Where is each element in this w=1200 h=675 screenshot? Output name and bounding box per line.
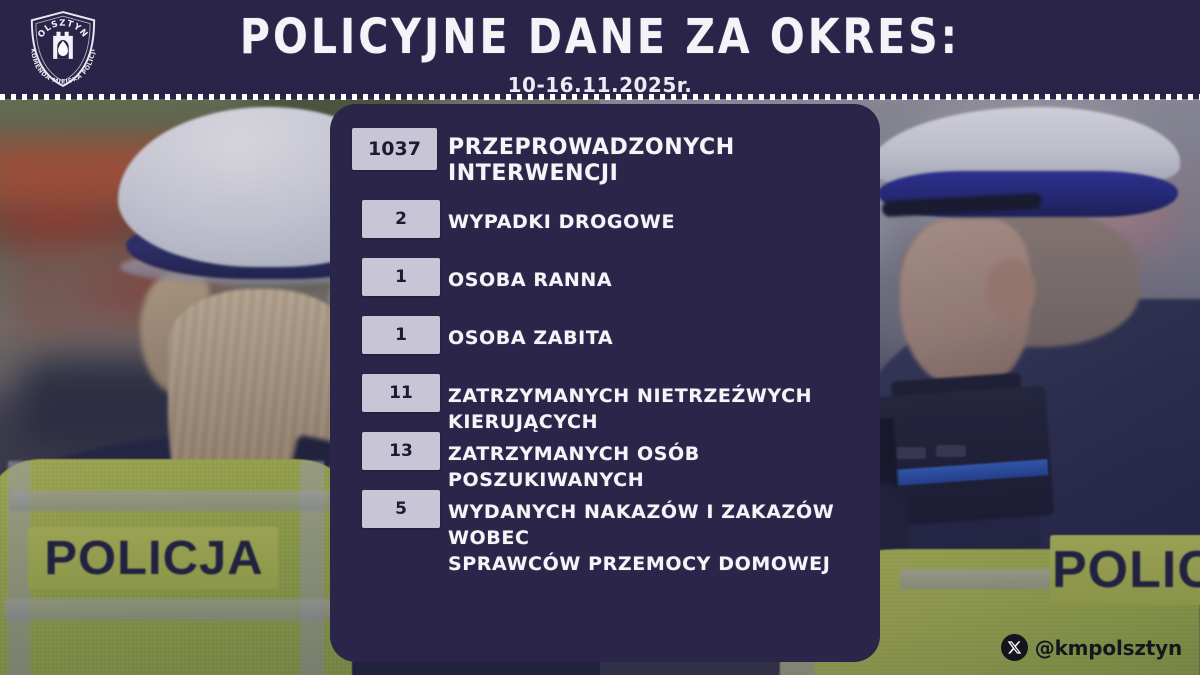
header-bar: OLSZTYN KOMENDA MIEJSKA POLICJI POLICYJN… xyxy=(0,0,1200,99)
stat-row: 1OSOBA ZABITA xyxy=(330,316,613,354)
stat-value-box: 11 xyxy=(362,374,440,412)
vest-policja-text-right: POLICJA xyxy=(1052,539,1200,601)
social-handle-text: @kmpolsztyn xyxy=(1035,636,1182,660)
social-handle[interactable]: @kmpolsztyn xyxy=(1001,634,1182,661)
stat-label: OSOBA ZABITA xyxy=(448,316,613,351)
stat-label: WYPADKI DROGOWE xyxy=(448,200,675,235)
x-twitter-icon[interactable] xyxy=(1001,634,1028,661)
stat-row: 1037PRZEPROWADZONYCH INTERWENCJI xyxy=(330,128,880,187)
stat-row: 13ZATRZYMANYCH OSÓB POSZUKIWANYCH xyxy=(330,432,880,493)
infographic-root: POLICJA POLI xyxy=(0,0,1200,675)
stat-row: 1OSOBA RANNA xyxy=(330,258,612,296)
stats-panel: 1037PRZEPROWADZONYCH INTERWENCJI2WYPADKI… xyxy=(330,104,880,662)
stat-value-box: 1 xyxy=(362,258,440,296)
vest-policja-text: POLICJA xyxy=(28,531,281,587)
vest-reflective-stripe xyxy=(10,491,340,511)
stat-value-box: 2 xyxy=(362,200,440,238)
stat-row: 2WYPADKI DROGOWE xyxy=(330,200,675,238)
stat-value-box: 5 xyxy=(362,490,440,528)
stat-value-box: 1037 xyxy=(352,128,437,170)
stat-value-box: 13 xyxy=(362,432,440,470)
stat-row: 5WYDANYCH NAKAZÓW I ZAKAZÓW WOBEC SPRAWC… xyxy=(330,490,880,577)
stat-label: WYDANYCH NAKAZÓW I ZAKAZÓW WOBEC SPRAWCÓ… xyxy=(448,490,880,577)
stat-label: ZATRZYMANYCH OSÓB POSZUKIWANYCH xyxy=(448,432,880,493)
stat-row: 11ZATRZYMANYCH NIETRZEŹWYCH KIERUJĄCYCH xyxy=(330,374,880,435)
officer-ear xyxy=(986,259,1036,321)
dashed-separator xyxy=(0,94,1200,100)
title-block: POLICYJNE DANE ZA OKRES: 10-16.11.2025r. xyxy=(0,8,1200,97)
speed-radar-button xyxy=(896,447,926,459)
stat-label: PRZEPROWADZONYCH INTERWENCJI xyxy=(448,128,880,187)
page-title: POLICYJNE DANE ZA OKRES: xyxy=(0,8,1200,65)
vest-reflective-stripe xyxy=(4,599,344,621)
stat-value-box: 1 xyxy=(362,316,440,354)
speed-radar-button xyxy=(936,445,966,457)
stat-label: ZATRZYMANYCH NIETRZEŹWYCH KIERUJĄCYCH xyxy=(448,374,880,435)
stat-label: OSOBA RANNA xyxy=(448,258,612,293)
